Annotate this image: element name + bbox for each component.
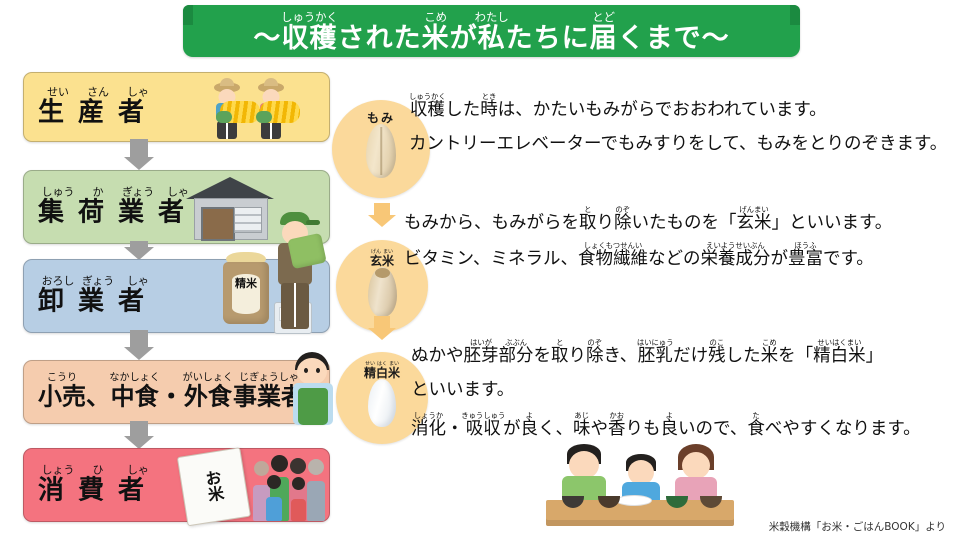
flow-step-producer: 生せい産さん者しゃ (23, 72, 330, 142)
momi-grain-icon (366, 124, 396, 178)
worker-with-sack-illustration (268, 212, 330, 334)
flow-step-producer-label: 生せい産さん者しゃ (38, 86, 158, 129)
description-hakumai: ぬかや胚芽はいが部分ぶぶんを取とり除のぞき、胚乳はいにゅうだけ残のこした米こめを… (411, 338, 921, 447)
rice-package-illustration: お米 (177, 446, 261, 529)
warehouse-illustration (184, 173, 276, 241)
farmers-illustration (210, 81, 318, 139)
infographic-canvas: 〜収穫しゅうかくされた米こめが私わたしたちに届とどくまで〜 生せい産さん者しゃ … (0, 0, 960, 540)
rice-bag-text: 精米 (232, 278, 260, 290)
rice-package-text: お米 (177, 448, 249, 525)
description-genmai: もみから、もみがらを取とり除のぞいたものを「玄米げんまい」といいます。ビタミン、… (404, 205, 892, 276)
consumer-family-illustration (252, 455, 334, 521)
flow-step-collector-label: 集しゅう荷か業ぎょう者しゃ (38, 186, 198, 229)
hakumai-grain-icon (368, 379, 396, 427)
rice-stage-arrow-2 (367, 316, 397, 340)
description-momi: 収穫しゅうかくした時ときは、かたいもみがらでおおわれています。カントリーエレベー… (409, 92, 947, 161)
page-title: 〜収穫しゅうかくされた米こめが私わたしたちに届とどくまで〜 (253, 11, 729, 52)
rice-stage-arrow-1 (367, 203, 397, 227)
flow-step-consumer: 消しょう費ひ者しゃ お米 (23, 448, 330, 522)
title-banner: 〜収穫しゅうかくされた米こめが私わたしたちに届とどくまで〜 (183, 5, 800, 57)
rice-stage-momi-caption: もみ (367, 109, 395, 126)
flow-step-wholesaler-label: 卸おろし業ぎょう者しゃ (38, 275, 158, 318)
flow-step-retailer: 小売こうり、中食なかしょく・外食がいしょく事業者じぎょうしゃ (23, 360, 330, 424)
family-eating-illustration (540, 432, 740, 528)
shopkeeper-illustration (287, 352, 339, 428)
rice-stage-genmai-caption: 玄げん米まい (370, 249, 394, 269)
genmai-grain-icon (368, 267, 397, 317)
credit-text: 米穀機構「お米・ごはんBOOK」より (769, 519, 946, 534)
flow-arrow-2 (124, 241, 154, 260)
flow-arrow-3 (124, 330, 154, 360)
flow-step-consumer-label: 消しょう費ひ者しゃ (38, 464, 158, 507)
rice-stage-hakumai-caption: 精せい白はく米まい (364, 361, 400, 381)
flow-step-retailer-label: 小売こうり、中食なかしょく・外食がいしょく事業者じぎょうしゃ (38, 373, 305, 412)
flow-arrow-4 (124, 421, 154, 449)
flow-arrow-1 (124, 139, 154, 170)
